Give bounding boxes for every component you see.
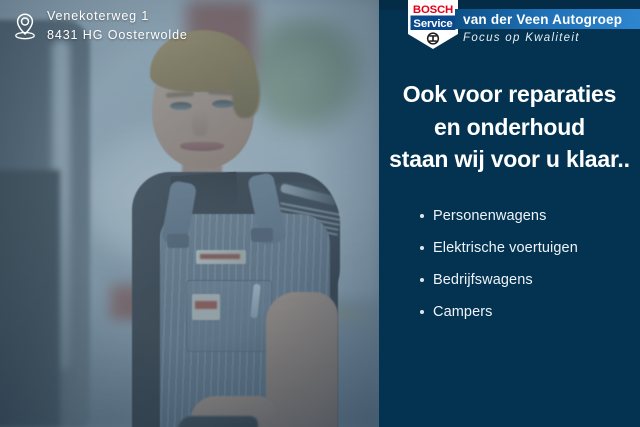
photo-scene (0, 0, 379, 427)
list-item: Bedrijfswagens (419, 273, 640, 288)
brand-name-bar: van der Veen Autogroep (455, 9, 640, 29)
address-line-1: Venekoterweg 1 (47, 8, 188, 25)
headline-line-2: en onderhoud (379, 111, 640, 144)
headline: Ook voor reparaties en onderhoud staan w… (379, 78, 640, 176)
services-list: Personenwagens Elektrische voertuigen Be… (419, 209, 640, 337)
headline-line-3: staan wij voor u klaar.. (379, 143, 640, 176)
address-text: Venekoterweg 1 8431 HG Oosterwolde (47, 8, 188, 44)
headline-line-1: Ook voor reparaties (379, 78, 640, 111)
svg-text:BOSCH: BOSCH (413, 4, 453, 16)
bosch-armature-icon (427, 32, 439, 44)
workshop-photo: Venekoterweg 1 8431 HG Oosterwolde (0, 0, 379, 427)
bosch-service-logo: BOSCH Service (407, 0, 459, 50)
list-item: Campers (419, 305, 640, 320)
brand-header: BOSCH Service van der Veen Autogroep Foc… (379, 0, 640, 54)
info-panel: BOSCH Service van der Veen Autogroep Foc… (379, 0, 640, 427)
location-pin-icon (12, 12, 38, 40)
address-line-2: 8431 HG Oosterwolde (47, 27, 188, 44)
address-overlay: Venekoterweg 1 8431 HG Oosterwolde (12, 8, 188, 44)
advertisement-banner: Venekoterweg 1 8431 HG Oosterwolde BOSCH… (0, 0, 640, 427)
photo-vignette (0, 0, 379, 427)
list-item: Elektrische voertuigen (419, 241, 640, 256)
svg-text:Service: Service (413, 18, 452, 30)
brand-name: van der Veen Autogroep (455, 12, 622, 27)
brand-tagline: Focus op Kwaliteit (463, 32, 580, 44)
list-item: Personenwagens (419, 209, 640, 224)
